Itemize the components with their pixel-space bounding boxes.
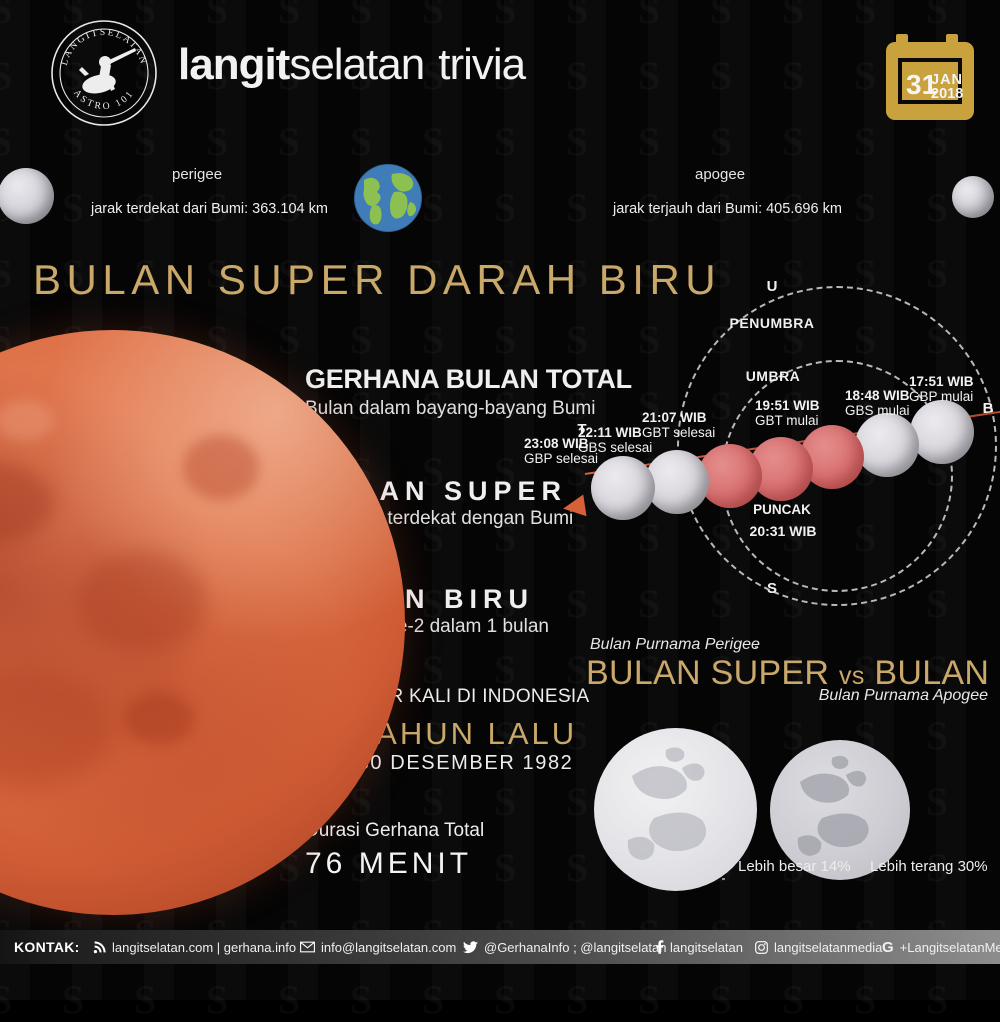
- phase-moon-gbs-mulai: [855, 413, 919, 477]
- moon-path-arrow-icon: [561, 494, 586, 519]
- envelope-icon: [300, 941, 315, 953]
- penumbra-label: PENUMBRA: [717, 315, 827, 331]
- eclipse-diagram: U S T B PENUMBRA UMBRA 17:51 WIB GBP mul…: [555, 270, 1000, 610]
- footer-googleplus-text: +LangitselatanMedia: [900, 940, 1000, 955]
- brand-part-selatan: selatan: [289, 40, 424, 89]
- perigee-label: perigee: [172, 166, 222, 183]
- fact-subtitle-gerhana-bulan-total: Bulan dalam bayang-bayang Bumi: [305, 398, 595, 420]
- earth-icon: [352, 162, 424, 234]
- footer-instagram-text: langitselatanmedia: [774, 940, 882, 955]
- brand-part-langit: langit: [178, 40, 289, 89]
- peak-time: 20:31 WIB: [735, 523, 831, 539]
- peak-label: PUNCAK: [745, 502, 819, 517]
- footer-facebook-text: langitselatan: [670, 940, 743, 955]
- direction-label-south: S: [752, 580, 792, 597]
- comparison-super-caption: Bulan Purnama Perigee: [590, 636, 760, 654]
- super-vs-mini-section: Bulan Purnama Perigee BULAN SUPER vs BUL…: [570, 632, 1000, 900]
- umbra-label: UMBRA: [728, 368, 818, 384]
- comparison-title-left: BULAN SUPER: [586, 654, 829, 692]
- calendar-year: 2018: [931, 86, 963, 102]
- kontak-label: KONTAK:: [14, 939, 80, 955]
- comparison-top-rule: [755, 646, 1000, 648]
- perigee-distance: jarak terdekat dari Bumi: 363.104 km: [91, 201, 328, 217]
- brand-title: langitselatantrivia: [178, 40, 525, 90]
- instagram-icon: [755, 941, 768, 954]
- footer-googleplus[interactable]: G +LangitselatanMedia: [882, 939, 1000, 956]
- phase-time-gbt-mulai: 19:51 WIB GBT mulai: [755, 398, 820, 428]
- footer-website-text: langitselatan.com | gerhana.info: [112, 940, 296, 955]
- facebook-icon: [655, 940, 664, 954]
- apogee-label: apogee: [695, 166, 745, 183]
- rss-icon: [93, 941, 106, 954]
- calendar-icon: 31 JAN 2018: [882, 28, 978, 124]
- footer-facebook[interactable]: langitselatan: [655, 940, 743, 955]
- direction-label-north: U: [752, 278, 792, 295]
- footer-instagram[interactable]: langitselatanmedia: [755, 940, 882, 955]
- distance-axis-line: [0, 196, 1000, 198]
- comparison-title-vs: vs: [839, 662, 865, 690]
- duration-value: 76 MENIT: [305, 847, 472, 881]
- langitselatan-logo: LANGITSELATAN ASTRO 101: [49, 18, 159, 128]
- footer-email[interactable]: info@langitselatan.com: [300, 940, 456, 955]
- phase-time-gbp-selesai: 23:08 WIB GBP selesai: [524, 436, 598, 466]
- duration-label: Durasi Gerhana Total: [305, 820, 484, 842]
- footer-twitter-text: @GerhanaInfo ; @langitselatan: [484, 940, 667, 955]
- twitter-icon: [463, 941, 478, 954]
- comparison-bottom-rule: [568, 695, 793, 697]
- supermoon-comparison-disc: [594, 728, 757, 891]
- googleplus-icon: G: [882, 939, 894, 956]
- footer-website[interactable]: langitselatan.com | gerhana.info: [93, 940, 296, 955]
- contact-footer: KONTAK: langitselatan.com | gerhana.info…: [0, 930, 1000, 964]
- comparison-baseline-rule: [722, 878, 1000, 880]
- phase-time-gbs-mulai: 18:48 WIB GBS mulai: [845, 388, 910, 418]
- phase-time-gbt-selesai: 21:07 WIB GBT selesai: [642, 410, 715, 440]
- apogee-distance: jarak terjauh dari Bumi: 405.696 km: [613, 201, 842, 217]
- comparison-brighter-label: Lebih terang 30%: [870, 858, 988, 875]
- phase-moon-gbp-mulai: [910, 400, 974, 464]
- brand-part-trivia: trivia: [438, 40, 525, 89]
- phase-time-gbp-mulai: 17:51 WIB GBP mulai: [909, 374, 974, 404]
- comparison-bigger-label: Lebih besar 14%: [738, 858, 851, 875]
- comparison-mini-caption: Bulan Purnama Apogee: [819, 687, 988, 705]
- footer-email-text: info@langitselatan.com: [321, 940, 456, 955]
- footer-twitter[interactable]: @GerhanaInfo ; @langitselatan: [463, 940, 667, 955]
- phase-moon-gbp-selesai: [591, 456, 655, 520]
